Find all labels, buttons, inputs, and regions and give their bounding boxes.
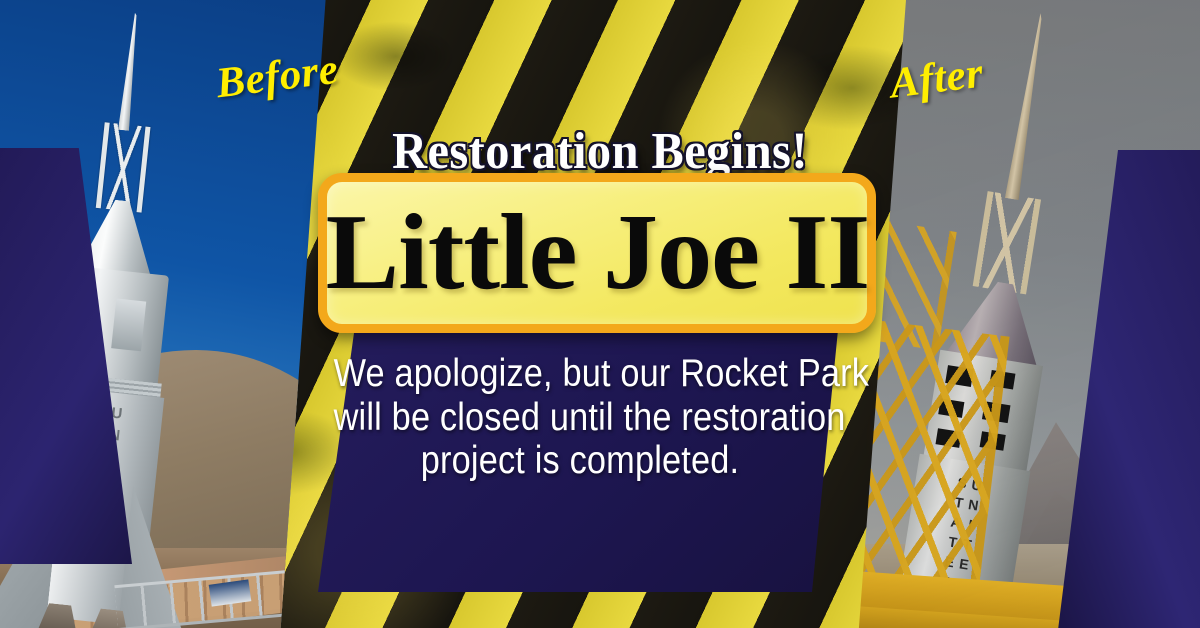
page-title: Little Joe II [325, 199, 869, 307]
escape-tower-truss-icon [973, 191, 1041, 294]
body-line-1: We apologize, but our Rocket Park [334, 352, 827, 396]
body-line-2: will be closed until the restoration [334, 396, 827, 440]
body-line-3: project is completed. [334, 439, 827, 483]
body-copy: We apologize, but our Rocket Park will b… [334, 352, 827, 483]
damaged-panel [111, 298, 146, 351]
escape-tower-spire-icon [118, 12, 141, 131]
title-plaque: Little Joe II [318, 173, 876, 333]
promo-graphic: UNITED STATES UNITED STATES [0, 0, 1200, 628]
